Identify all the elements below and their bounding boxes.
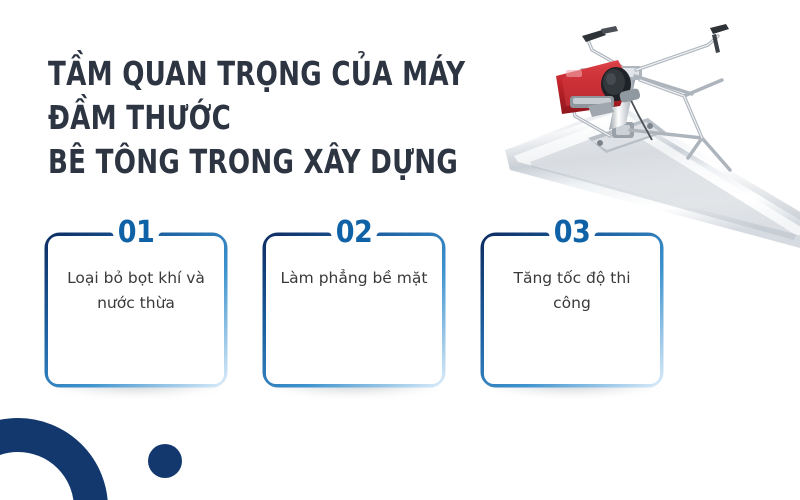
card-number: 02 (262, 218, 446, 248)
decorative-arc-shape (0, 418, 108, 500)
decorative-dot-shape (148, 444, 182, 478)
card-text: Tăng tốc độ thi công (496, 266, 648, 316)
card-background (266, 236, 442, 384)
benefit-card-01[interactable]: 01 Loại bỏ bọt khí và nước thừa (44, 232, 228, 388)
benefit-cards-row: 01 Loại bỏ bọt khí và nước thừa (44, 232, 664, 392)
benefit-card-03[interactable]: 03 Tăng tốc độ thi công (480, 232, 664, 388)
benefit-card-02[interactable]: 02 Làm phẳng bề mặt (262, 232, 446, 388)
card-text: Loại bỏ bọt khí và nước thừa (60, 266, 212, 316)
card-number: 01 (44, 218, 228, 248)
infographic-canvas: TẦM QUAN TRỌNG CỦA MÁY ĐẦM THƯỚC BÊ TÔNG… (0, 0, 800, 500)
page-title: TẦM QUAN TRỌNG CỦA MÁY ĐẦM THƯỚC BÊ TÔNG… (48, 52, 523, 184)
card-text: Làm phẳng bề mặt (278, 266, 430, 291)
handle-grips (582, 24, 729, 53)
card-number: 03 (480, 218, 664, 248)
